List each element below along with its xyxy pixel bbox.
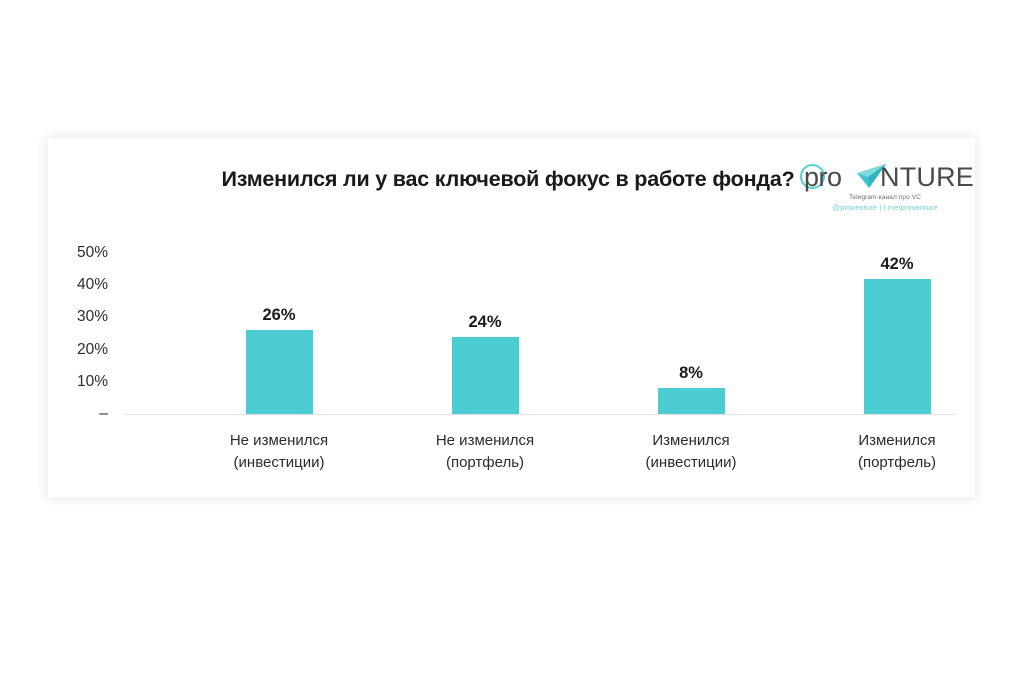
y-axis-tick: 40% xyxy=(56,277,108,292)
bar-group: 26% xyxy=(246,330,313,414)
bar-value-label: 8% xyxy=(679,364,703,382)
bar[interactable] xyxy=(864,279,931,414)
bar-group: 42% xyxy=(864,279,931,414)
y-axis-tick: 20% xyxy=(56,342,108,357)
chart-card: Изменился ли у вас ключевой фокус в рабо… xyxy=(48,138,975,497)
x-axis-category-label: Изменился(инвестиции) xyxy=(581,430,801,474)
x-axis-category-line: (портфель) xyxy=(787,452,1007,474)
bar[interactable] xyxy=(658,388,725,414)
bar[interactable] xyxy=(452,337,519,414)
y-axis-tick: 50% xyxy=(56,245,108,260)
x-axis-category-label: Не изменился(портфель) xyxy=(375,430,595,474)
bar-value-label: 42% xyxy=(880,255,913,273)
y-axis-tick: 30% xyxy=(56,309,108,324)
bar-value-label: 26% xyxy=(262,306,295,324)
x-axis-category-line: (инвестиции) xyxy=(581,452,801,474)
bar-group: 24% xyxy=(452,337,519,414)
y-axis-tick: 10% xyxy=(56,374,108,389)
x-axis-category-line: Изменился xyxy=(787,430,1007,452)
bar[interactable] xyxy=(246,330,313,414)
x-axis-category-line: Изменился xyxy=(581,430,801,452)
x-axis-category-label: Не изменился(инвестиции) xyxy=(169,430,389,474)
bar-value-label: 24% xyxy=(468,313,501,331)
plot-area: 50%40%30%20%10%– 26%Не изменился(инвести… xyxy=(48,138,975,497)
x-axis-category-line: (инвестиции) xyxy=(169,452,389,474)
bar-group: 8% xyxy=(658,388,725,414)
x-axis-category-line: Не изменился xyxy=(375,430,595,452)
x-axis-category-line: (портфель) xyxy=(375,452,595,474)
x-axis-line xyxy=(125,414,955,415)
x-axis-category-line: Не изменился xyxy=(169,430,389,452)
x-axis-category-label: Изменился(портфель) xyxy=(787,430,1007,474)
y-axis-tick: – xyxy=(56,406,108,421)
